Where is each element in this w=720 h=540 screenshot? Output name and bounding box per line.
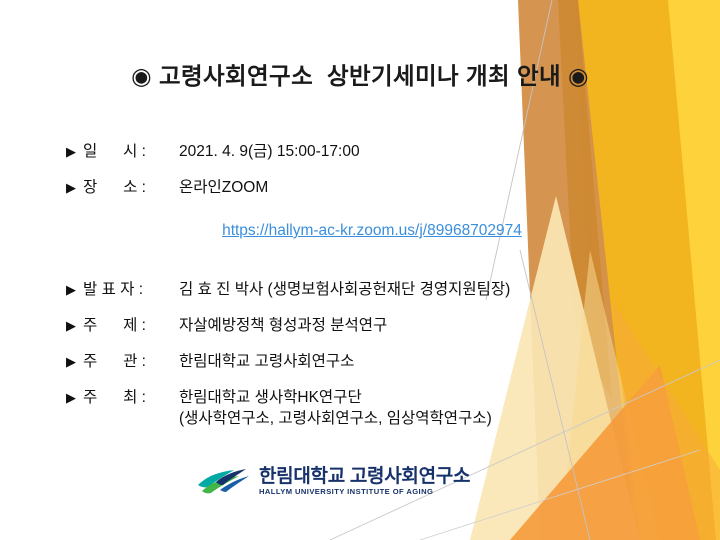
triangle-right-icon: ▶ [66, 315, 83, 332]
info-row-line: 주 관 : 한림대학교 고령사회연구소 [83, 351, 666, 372]
logo-title-korean: 한림대학교 고령사회연구소 [259, 467, 470, 486]
info-row-organizer: ▶ 주 관 : 한림대학교 고령사회연구소 [66, 351, 666, 372]
info-value-host: 한림대학교 생사학HK연구단 [179, 387, 362, 408]
logo-text-block: 한림대학교 고령사회연구소 HALLYM UNIVERSITY INSTITUT… [259, 467, 470, 496]
info-value-presenter: 김 효 진 박사 (생명보험사회공헌재단 경영지원팀장) [179, 279, 510, 300]
info-subline-place: https://hallym-ac-kr.zoom.us/j/899687029… [83, 198, 666, 264]
triangle-right-icon: ▶ [66, 177, 83, 194]
info-label-place: 장 소 : [83, 177, 179, 198]
info-row-line: 주 최 : 한림대학교 생사학HK연구단 [83, 387, 666, 408]
logo-title-english: HALLYM UNIVERSITY INSTITUTE OF AGING [259, 488, 470, 496]
info-label-datetime: 일 시 : [83, 141, 179, 162]
info-label-presenter: 발 표 자 : [83, 279, 179, 300]
info-row-body: 발 표 자 : 김 효 진 박사 (생명보험사회공헌재단 경영지원팀장) [83, 279, 666, 300]
info-row-body: 일 시 : 2021. 4. 9(금) 15:00-17:00 [83, 141, 666, 162]
info-subline-host: (생사학연구소, 고령사회연구소, 임상역학연구소) [83, 408, 666, 430]
info-row-presenter: ▶ 발 표 자 : 김 효 진 박사 (생명보험사회공헌재단 경영지원팀장) [66, 279, 666, 300]
info-label-topic: 주 제 : [83, 315, 179, 336]
info-row-place: ▶ 장 소 : 온라인ZOOM https://hallym-ac-kr.zoo… [66, 177, 666, 264]
page-title: ◉ 고령사회연구소 상반기세미나 개최 안내 ◉ [131, 57, 589, 91]
info-value-datetime: 2021. 4. 9(금) 15:00-17:00 [179, 141, 360, 162]
info-row-line: 주 제 : 자살예방정책 형성과정 분석연구 [83, 315, 666, 336]
info-label-organizer: 주 관 : [83, 351, 179, 372]
triangle-right-icon: ▶ [66, 141, 83, 158]
triangle-right-icon: ▶ [66, 351, 83, 368]
seminar-info-list: ▶ 일 시 : 2021. 4. 9(금) 15:00-17:00 ▶ 장 소 … [66, 141, 666, 445]
info-row-body: 장 소 : 온라인ZOOM https://hallym-ac-kr.zoom.… [83, 177, 666, 264]
hallym-wave-mark-icon [196, 466, 252, 496]
institute-logo: 한림대학교 고령사회연구소 HALLYM UNIVERSITY INSTITUT… [196, 466, 470, 496]
info-row-body: 주 최 : 한림대학교 생사학HK연구단 (생사학연구소, 고령사회연구소, 임… [83, 387, 666, 430]
triangle-right-icon: ▶ [66, 387, 83, 404]
info-row-datetime: ▶ 일 시 : 2021. 4. 9(금) 15:00-17:00 [66, 141, 666, 162]
info-value-place: 온라인ZOOM [179, 177, 268, 198]
info-row-body: 주 제 : 자살예방정책 형성과정 분석연구 [83, 315, 666, 336]
triangle-right-icon: ▶ [66, 279, 83, 296]
info-row-line: 일 시 : 2021. 4. 9(금) 15:00-17:00 [83, 141, 666, 162]
info-value-topic: 자살예방정책 형성과정 분석연구 [179, 315, 387, 336]
info-row-topic: ▶ 주 제 : 자살예방정책 형성과정 분석연구 [66, 315, 666, 336]
info-row-host: ▶ 주 최 : 한림대학교 생사학HK연구단 (생사학연구소, 고령사회연구소,… [66, 387, 666, 430]
info-row-body: 주 관 : 한림대학교 고령사회연구소 [83, 351, 666, 372]
info-value-organizer: 한림대학교 고령사회연구소 [179, 351, 354, 372]
info-row-line: 발 표 자 : 김 효 진 박사 (생명보험사회공헌재단 경영지원팀장) [83, 279, 666, 300]
title-block: ◉ 고령사회연구소 상반기세미나 개최 안내 ◉ [0, 57, 720, 91]
info-label-host: 주 최 : [83, 387, 179, 408]
zoom-meeting-link[interactable]: https://hallym-ac-kr.zoom.us/j/899687029… [222, 222, 522, 239]
slide-canvas: ◉ 고령사회연구소 상반기세미나 개최 안내 ◉ ▶ 일 시 : 2021. 4… [0, 0, 720, 540]
info-row-line: 장 소 : 온라인ZOOM [83, 177, 666, 198]
